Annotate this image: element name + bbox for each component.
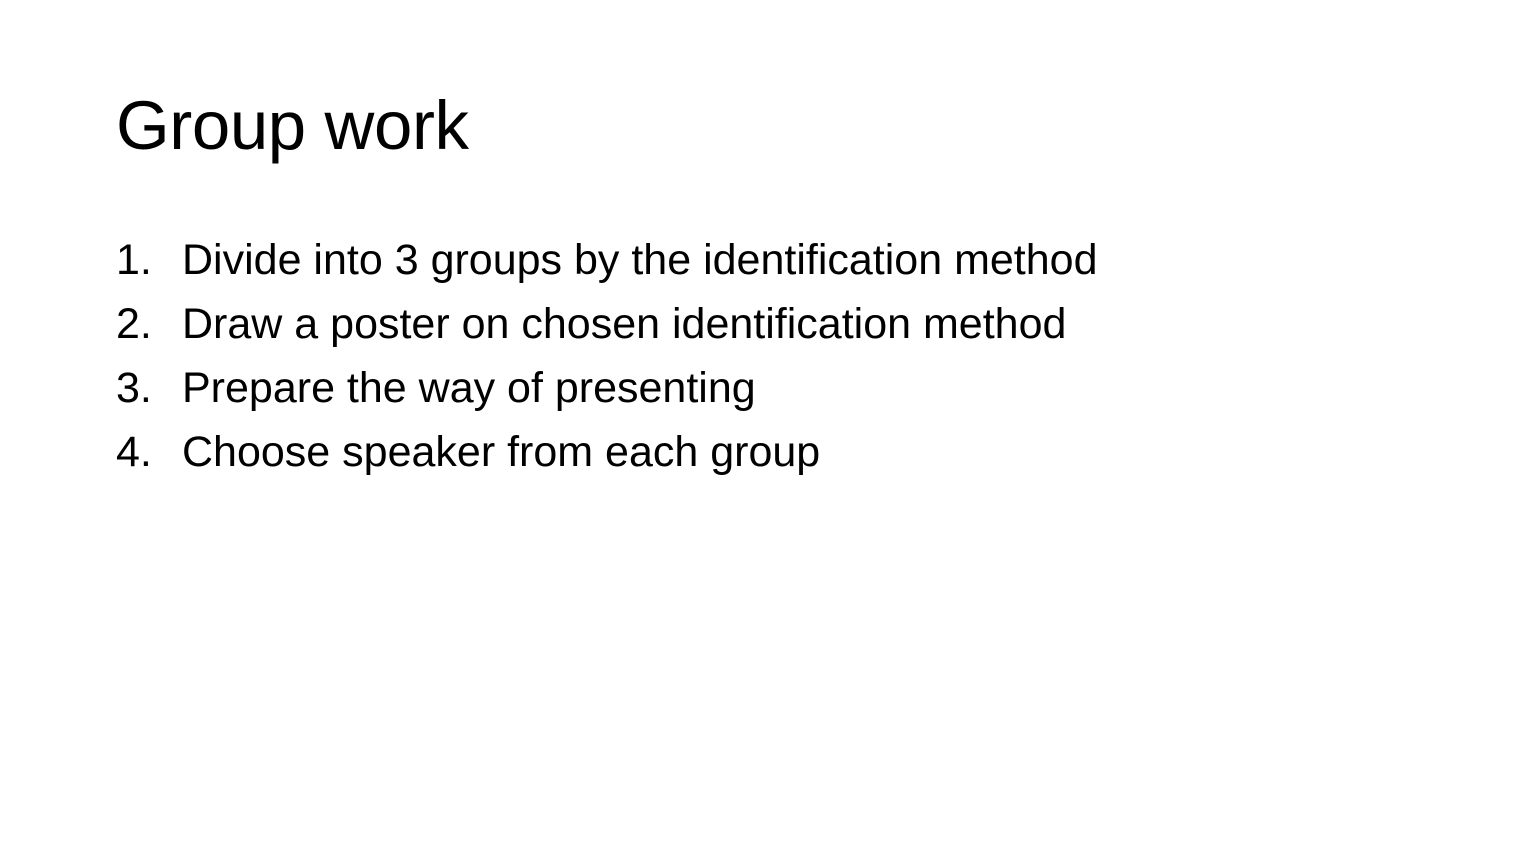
list-item-number: 2.: [116, 292, 182, 356]
list-item: 3. Prepare the way of presenting: [116, 356, 1436, 420]
list-item-label: Prepare the way of presenting: [182, 356, 756, 420]
list-item-number: 3.: [116, 356, 182, 420]
list-item: 1. Divide into 3 groups by the identific…: [116, 228, 1436, 292]
list-item: 2. Draw a poster on chosen identificatio…: [116, 292, 1436, 356]
list-item-label: Divide into 3 groups by the identificati…: [182, 228, 1098, 292]
list-item-label: Draw a poster on chosen identification m…: [182, 292, 1066, 356]
list-item-label: Choose speaker from each group: [182, 420, 820, 484]
numbered-list: 1. Divide into 3 groups by the identific…: [116, 228, 1436, 484]
page-title: Group work: [116, 84, 1416, 168]
list-item-number: 4.: [116, 420, 182, 484]
presentation-slide: Group work 1. Divide into 3 groups by th…: [0, 0, 1533, 864]
list-item-number: 1.: [116, 228, 182, 292]
list-item: 4. Choose speaker from each group: [116, 420, 1436, 484]
